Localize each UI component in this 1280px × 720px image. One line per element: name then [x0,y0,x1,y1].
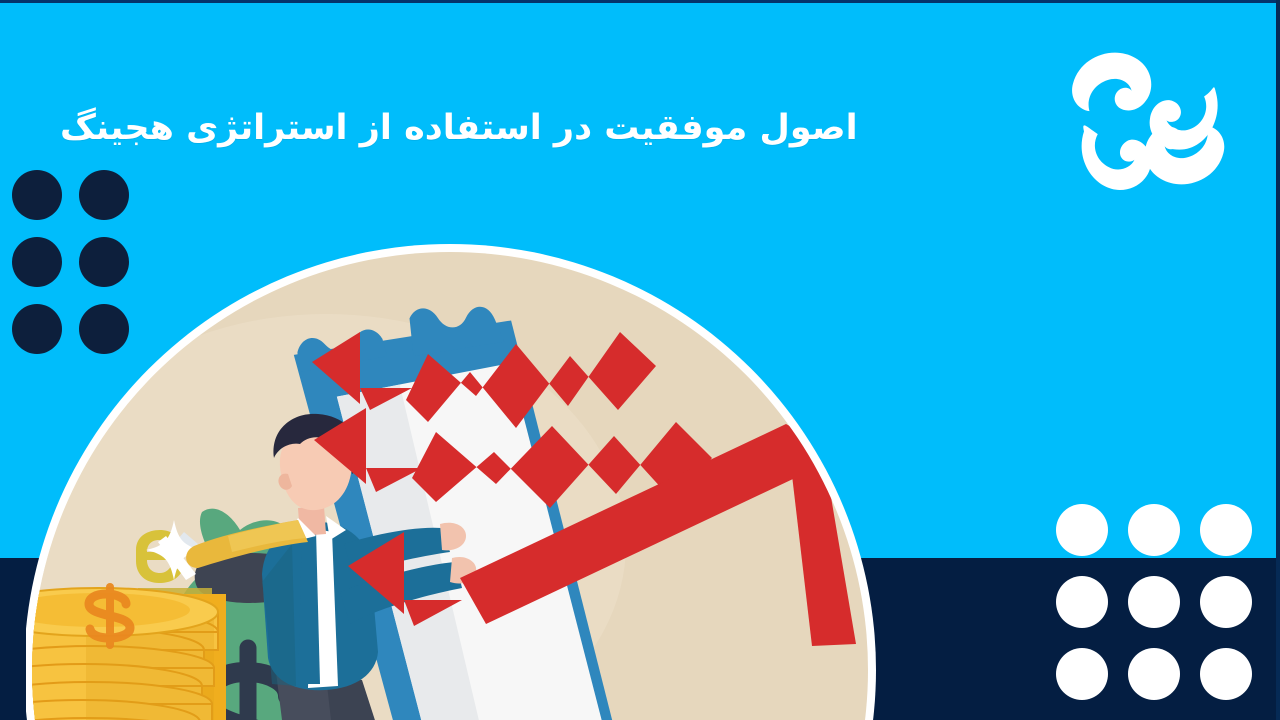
dot [1056,648,1108,700]
page-title: اصول موفقیت در استفاده از استراتژی هجینگ [60,96,1020,162]
dot [79,170,129,220]
dot [1128,576,1180,628]
dot [1200,504,1252,556]
dot [1056,504,1108,556]
dot [1128,504,1180,556]
dot [1128,648,1180,700]
hedging-strategy-illustration [26,244,876,720]
dot [12,170,62,220]
dot [1200,576,1252,628]
pinwheel-logo-icon [1052,36,1237,201]
slide-canvas: اصول موفقیت در استفاده از استراتژی هجینگ [0,0,1280,720]
coin-stack [26,587,226,720]
pinwheel-logo[interactable] [1052,36,1237,201]
top-edge-strip [0,0,1280,3]
dot-grid-right [1056,504,1252,700]
dot [1056,576,1108,628]
right-edge-strip [1276,0,1280,720]
dot [1200,648,1252,700]
